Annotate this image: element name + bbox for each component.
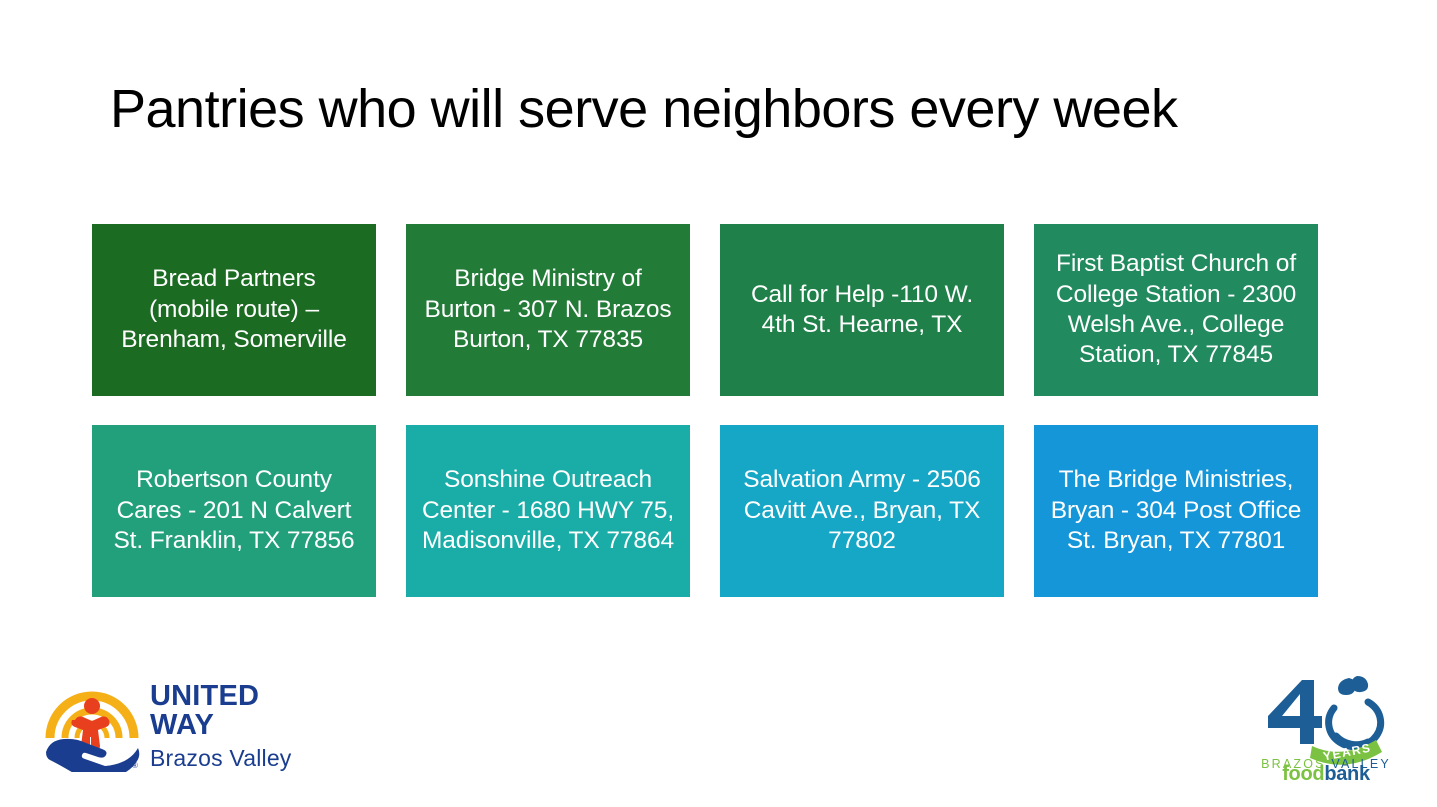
pantry-card-grid: Bread Partners (mobile route) – Brenham,… bbox=[92, 224, 1320, 597]
food-bank-wordmark: foodbank bbox=[1282, 763, 1371, 780]
pantry-card-salvation-army[interactable]: Salvation Army - 2506 Cavitt Ave., Bryan… bbox=[720, 425, 1004, 597]
pantry-card-label: First Baptist Church of College Station … bbox=[1056, 249, 1296, 371]
slide-canvas: Pantries who will serve neighbors every … bbox=[0, 0, 1437, 807]
pantry-card-label: The Bridge Ministries, Bryan - 304 Post … bbox=[1051, 465, 1302, 556]
united-way-name: UNITED WAY bbox=[150, 682, 292, 740]
pantry-card-bridge-ministry-burton[interactable]: Bridge Ministry of Burton - 307 N. Brazo… bbox=[406, 224, 690, 396]
united-way-logo: ® UNITED WAY Brazos Valley bbox=[44, 678, 292, 774]
united-way-wordmark: UNITED WAY Brazos Valley bbox=[150, 682, 292, 770]
pantry-card-label: Sonshine Outreach Center - 1680 HWY 75, … bbox=[422, 465, 674, 556]
pantry-card-first-baptist-college-station[interactable]: First Baptist Church of College Station … bbox=[1034, 224, 1318, 396]
page-title: Pantries who will serve neighbors every … bbox=[110, 78, 1330, 140]
pantry-card-label: Salvation Army - 2506 Cavitt Ave., Bryan… bbox=[743, 465, 981, 556]
pantry-card-label: Robertson County Cares - 201 N Calvert S… bbox=[113, 465, 354, 556]
pantry-card-label: Bridge Ministry of Burton - 307 N. Brazo… bbox=[425, 264, 672, 355]
food-bank-apple-40-icon: YEARS BRAZOS VALLEY foodbank bbox=[1256, 668, 1396, 780]
pantry-card-sonshine-outreach-center[interactable]: Sonshine Outreach Center - 1680 HWY 75, … bbox=[406, 425, 690, 597]
pantry-card-call-for-help[interactable]: Call for Help -110 W. 4th St. Hearne, TX bbox=[720, 224, 1004, 396]
pantry-card-label: Bread Partners (mobile route) – Brenham,… bbox=[121, 264, 347, 355]
pantry-card-robertson-county-cares[interactable]: Robertson County Cares - 201 N Calvert S… bbox=[92, 425, 376, 597]
pantry-card-bread-partners[interactable]: Bread Partners (mobile route) – Brenham,… bbox=[92, 224, 376, 396]
united-way-hand-icon: ® bbox=[44, 680, 140, 772]
pantry-card-label: Call for Help -110 W. 4th St. Hearne, TX bbox=[751, 280, 973, 341]
registered-trademark-symbol: ® bbox=[132, 761, 138, 770]
food-bank-logo: YEARS BRAZOS VALLEY foodbank bbox=[1256, 668, 1396, 780]
united-way-region: Brazos Valley bbox=[150, 747, 292, 770]
pantry-card-the-bridge-ministries-bryan[interactable]: The Bridge Ministries, Bryan - 304 Post … bbox=[1034, 425, 1318, 597]
